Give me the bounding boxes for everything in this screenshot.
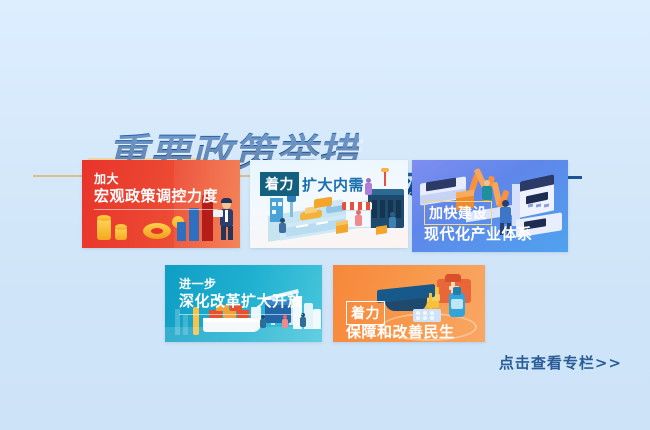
card-macro-policy[interactable]: 加大 宏观政策调控力度 — [82, 160, 240, 248]
card-reform-opening[interactable]: 进一步 深化改革扩大开放 — [165, 265, 322, 342]
card-eyebrow: 加快建设 — [424, 201, 492, 225]
card-title: 宏观政策调控力度 — [94, 185, 218, 210]
view-column-link[interactable]: 点击查看专栏>> — [499, 352, 622, 373]
card-title: 保障和改善民生 — [346, 321, 455, 342]
card-title: 深化改革扩大开放 — [179, 290, 303, 315]
card-domestic-demand[interactable]: 着力 扩大内需 — [250, 160, 408, 248]
card-title: 扩大内需 — [302, 172, 364, 197]
card-title: 现代化产业体系 — [424, 223, 533, 244]
banner-stage: 重要政策举措 及实施效果 — [0, 0, 650, 430]
title-block: 重要政策举措 及实施效果 — [0, 58, 650, 148]
card-eyebrow: 着力 — [260, 172, 299, 196]
card-livelihood[interactable]: 着力 保障和改善民生 — [333, 265, 485, 342]
card-modern-industry[interactable]: 加快建设 现代化产业体系 — [412, 160, 568, 252]
